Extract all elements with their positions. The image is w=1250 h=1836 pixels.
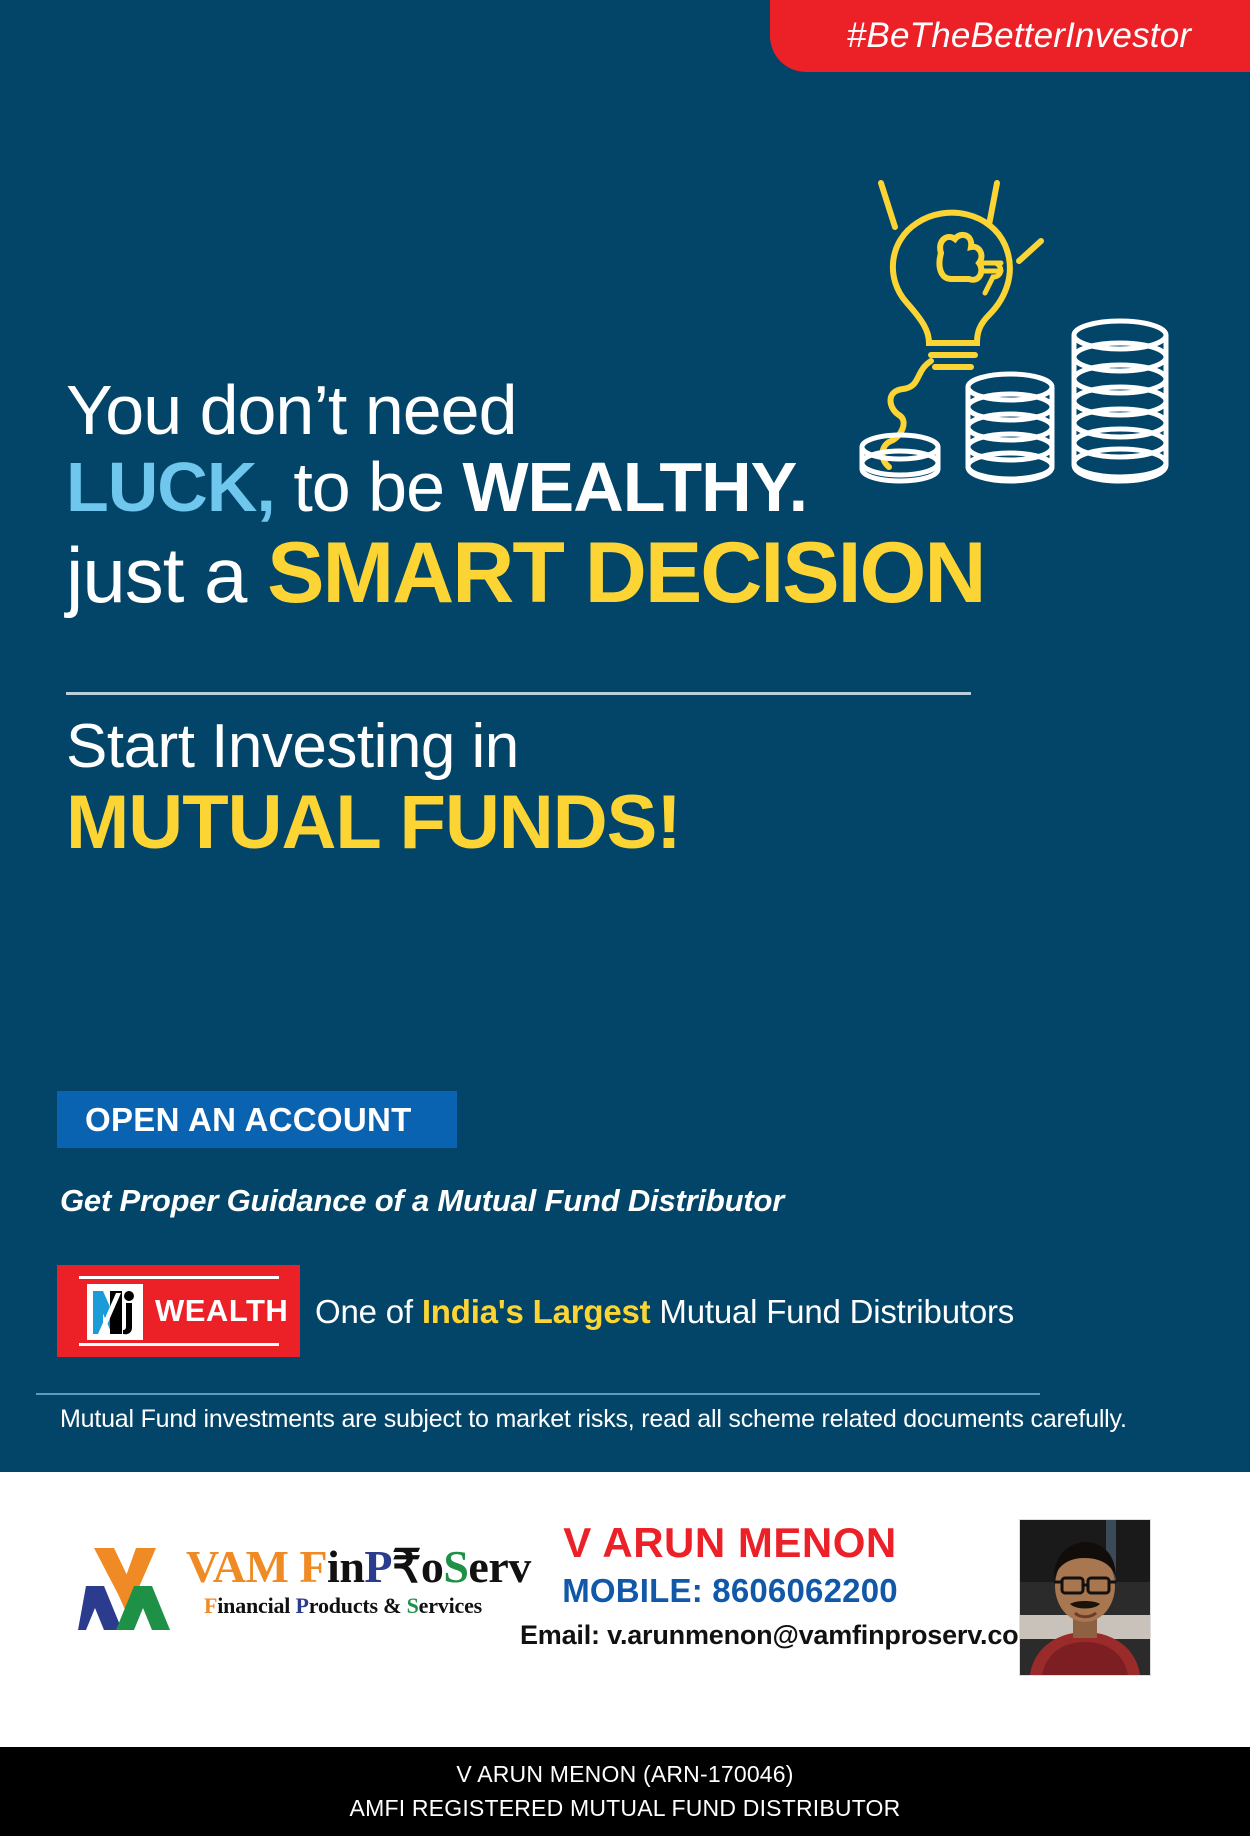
headline-luck: LUCK, xyxy=(66,448,275,526)
hashtag-ribbon: #BeTheBetterInvestor xyxy=(770,0,1250,72)
nj-logo-rule-bottom xyxy=(79,1343,279,1346)
guidance-text: Get Proper Guidance of a Mutual Fund Dis… xyxy=(60,1183,784,1219)
subheadline-line-1: Start Investing in xyxy=(66,714,1166,779)
nj-wealth-logo: WEALTH xyxy=(57,1265,300,1357)
subheadline-block: Start Investing in MUTUAL FUNDS! xyxy=(66,714,1166,863)
headline-line-2: LUCK, to be WEALTHY. xyxy=(66,452,1166,523)
vam-finproserv-logo: VAM FinP₹oServ Financial Products & Serv… xyxy=(78,1534,498,1634)
risk-disclaimer: Mutual Fund investments are subject to m… xyxy=(60,1405,1127,1434)
headline-tobe: to be xyxy=(275,448,463,526)
contact-email[interactable]: Email: v.arunmenon@vamfinproserv.com xyxy=(520,1620,940,1651)
nj-tagline-part-2: Mutual Fund Distributors xyxy=(650,1293,1014,1330)
avatar xyxy=(1019,1519,1151,1676)
bottom-bar-line-2: AMFI REGISTERED MUTUAL FUND DISTRIBUTOR xyxy=(350,1792,901,1825)
nj-tagline: One of India's Largest Mutual Fund Distr… xyxy=(315,1293,1014,1331)
contact-name: V ARUN MENON xyxy=(520,1520,940,1566)
hashtag-text: #BeTheBetterInvestor xyxy=(829,16,1191,56)
open-an-account-label: OPEN AN ACCOUNT xyxy=(57,1101,412,1139)
nj-tagline-highlight: India's Largest xyxy=(422,1293,651,1330)
bottom-bar-line-1: V ARUN MENON (ARN-170046) xyxy=(456,1758,793,1791)
risk-divider xyxy=(36,1393,1040,1395)
headline-divider xyxy=(66,692,971,695)
bottom-bar: V ARUN MENON (ARN-170046) AMFI REGISTERE… xyxy=(0,1747,1250,1836)
headline-smart-decision: SMART DECISION xyxy=(267,525,984,621)
contact-block: V ARUN MENON MOBILE: 8606062200 Email: v… xyxy=(520,1520,940,1651)
headline-block: You don’t need LUCK, to be WEALTHY. just… xyxy=(66,375,1166,618)
hero-panel: #BeTheBetterInvestor xyxy=(0,0,1250,1472)
nj-tagline-part-1: One of xyxy=(315,1293,422,1330)
headline-line-1: You don’t need xyxy=(66,375,1166,446)
vam-tagline: Financial Products & Services xyxy=(204,1593,506,1619)
nj-logo-rule-top xyxy=(79,1276,279,1279)
nj-monogram-icon xyxy=(87,1284,143,1340)
headline-wealthy: WEALTHY. xyxy=(462,448,807,526)
vam-chevron-icon xyxy=(78,1542,178,1634)
open-an-account-button[interactable]: OPEN AN ACCOUNT xyxy=(57,1091,457,1148)
contact-mobile[interactable]: MOBILE: 8606062200 xyxy=(520,1572,940,1610)
poster-root: #BeTheBetterInvestor xyxy=(0,0,1250,1836)
vam-wordmark-wrap: VAM FinP₹oServ Financial Products & Serv… xyxy=(186,1544,506,1619)
vam-wordmark: VAM FinP₹oServ xyxy=(186,1544,506,1590)
subheadline-line-2: MUTUAL FUNDS! xyxy=(66,783,1166,863)
nj-wealth-wordmark: WEALTH xyxy=(155,1293,288,1329)
headline-line-3: just a SMART DECISION xyxy=(66,530,1166,618)
headline-justa: just a xyxy=(66,531,267,619)
